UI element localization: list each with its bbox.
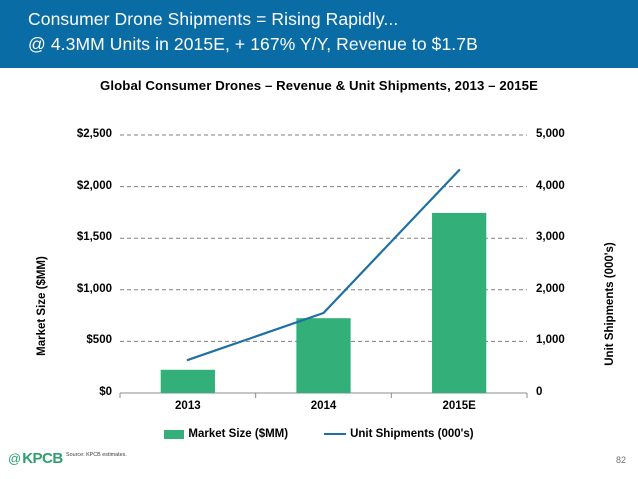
chart-title: Global Consumer Drones – Revenue & Unit … [0, 78, 638, 93]
kpcb-logo: @ KPCB [8, 451, 63, 466]
right-axis-tick-label: 4,000 [536, 180, 606, 192]
left-axis-tick-label: $2,500 [30, 128, 112, 140]
slide-header-banner: Consumer Drone Shipments = Rising Rapidl… [0, 0, 638, 68]
legend-entry-unit-shipments: Unit Shipments (000's) [324, 428, 474, 440]
right-axis-tick-label: 2,000 [536, 283, 606, 295]
bar [432, 213, 486, 393]
left-axis-tick-label: $0 [30, 386, 112, 398]
left-axis-title: Market Size ($MM) [36, 231, 48, 381]
chart-plot-area: $0$500$1,000$1,500$2,000$2,500 01,0002,0… [0, 108, 638, 408]
bar [161, 370, 215, 393]
source-note: Source: KPCB estimates. [66, 452, 127, 458]
legend-bar-swatch-icon [164, 430, 184, 439]
x-axis-tick-label: 2014 [256, 400, 392, 412]
right-axis-title: Unit Shipments (000's) [604, 224, 616, 384]
chart-legend: Market Size ($MM) Unit Shipments (000's) [0, 428, 638, 440]
slide-footer: @ KPCB Source: KPCB estimates. 82 [0, 449, 638, 479]
legend-line-swatch-icon [324, 433, 346, 435]
page-number: 82 [616, 455, 626, 465]
right-axis-tick-label: 0 [536, 386, 606, 398]
header-title-line-2: @ 4.3MM Units in 2015E, + 167% Y/Y, Reve… [28, 32, 638, 57]
header-title-line-1: Consumer Drone Shipments = Rising Rapidl… [28, 7, 638, 32]
right-axis-tick-label: 1,000 [536, 334, 606, 346]
right-axis-tick-label: 3,000 [536, 231, 606, 243]
legend-entry-market-size: Market Size ($MM) [164, 428, 288, 440]
left-axis-tick-label: $2,000 [30, 180, 112, 192]
kpcb-wordmark: KPCB [22, 451, 63, 466]
chart-svg [0, 108, 638, 408]
at-symbol-icon: @ [8, 452, 21, 465]
x-axis-tick-label: 2013 [120, 400, 256, 412]
legend-label-unit-shipments: Unit Shipments (000's) [350, 428, 474, 440]
bar-series-group [161, 213, 487, 393]
bar [296, 318, 350, 393]
right-axis-tick-label: 5,000 [536, 128, 606, 140]
legend-label-market-size: Market Size ($MM) [188, 428, 288, 440]
x-axis-tick-label: 2015E [391, 400, 527, 412]
axis-lines-group [120, 393, 527, 398]
